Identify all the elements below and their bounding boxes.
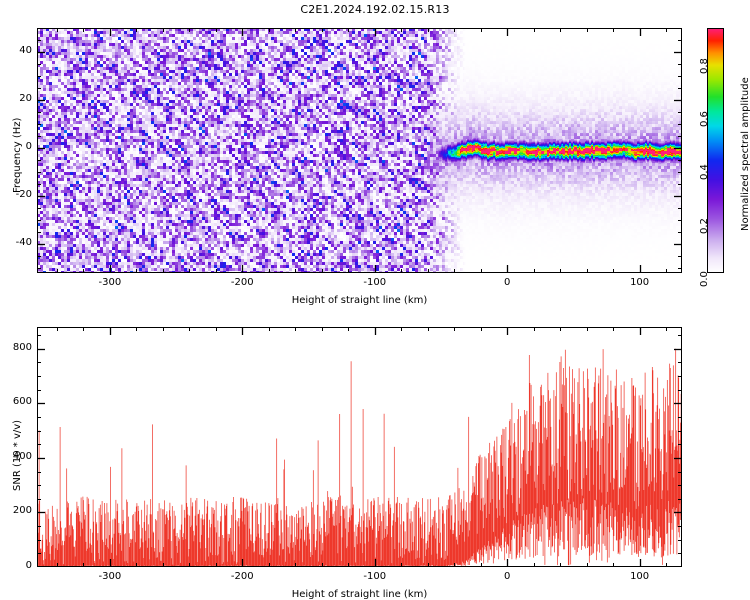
x-tick-label: 100 xyxy=(620,277,660,288)
spectrogram-y-axis-label: Frequency (Hz) xyxy=(12,117,23,192)
x-tick-label: 0 xyxy=(487,571,527,582)
snr-x-axis-label: Height of straight line (km) xyxy=(280,589,440,600)
colorbar-tick-label: 0.8 xyxy=(699,58,710,74)
colorbar-tick-label: 0.0 xyxy=(699,271,710,287)
x-tick-label: 100 xyxy=(620,571,660,582)
y-tick-label: 200 xyxy=(2,505,32,516)
colorbar-tick-label: 0.2 xyxy=(699,218,710,234)
y-tick-label: 800 xyxy=(2,342,32,353)
y-tick-label: 600 xyxy=(2,396,32,407)
snr-plot[interactable] xyxy=(37,327,682,567)
spectrogram-x-axis-label: Height of straight line (km) xyxy=(280,295,440,306)
colorbar-tick-label: 0.4 xyxy=(699,165,710,181)
y-tick-label: 0 xyxy=(2,141,32,152)
y-tick-label: 40 xyxy=(2,45,32,56)
x-tick-label: -200 xyxy=(222,571,262,582)
y-tick-label: 0 xyxy=(2,560,32,571)
x-tick-label: -100 xyxy=(355,571,395,582)
y-tick-label: -40 xyxy=(2,237,32,248)
x-tick-label: -300 xyxy=(90,277,130,288)
y-tick-label: -20 xyxy=(2,189,32,200)
y-tick-label: 20 xyxy=(2,93,32,104)
x-tick-label: -300 xyxy=(90,571,130,582)
y-tick-label: 400 xyxy=(2,451,32,462)
figure-title: C2E1.2024.192.02.15.R13 xyxy=(0,3,750,16)
x-tick-label: -100 xyxy=(355,277,395,288)
figure-root: C2E1.2024.192.02.15.R13 Height of straig… xyxy=(0,0,750,600)
colorbar-label: Normalized spectral amplitude xyxy=(740,77,750,231)
x-tick-label: 0 xyxy=(487,277,527,288)
x-tick-label: -200 xyxy=(222,277,262,288)
colorbar-tick-label: 0.6 xyxy=(699,111,710,127)
spectrogram-plot[interactable] xyxy=(37,28,682,273)
